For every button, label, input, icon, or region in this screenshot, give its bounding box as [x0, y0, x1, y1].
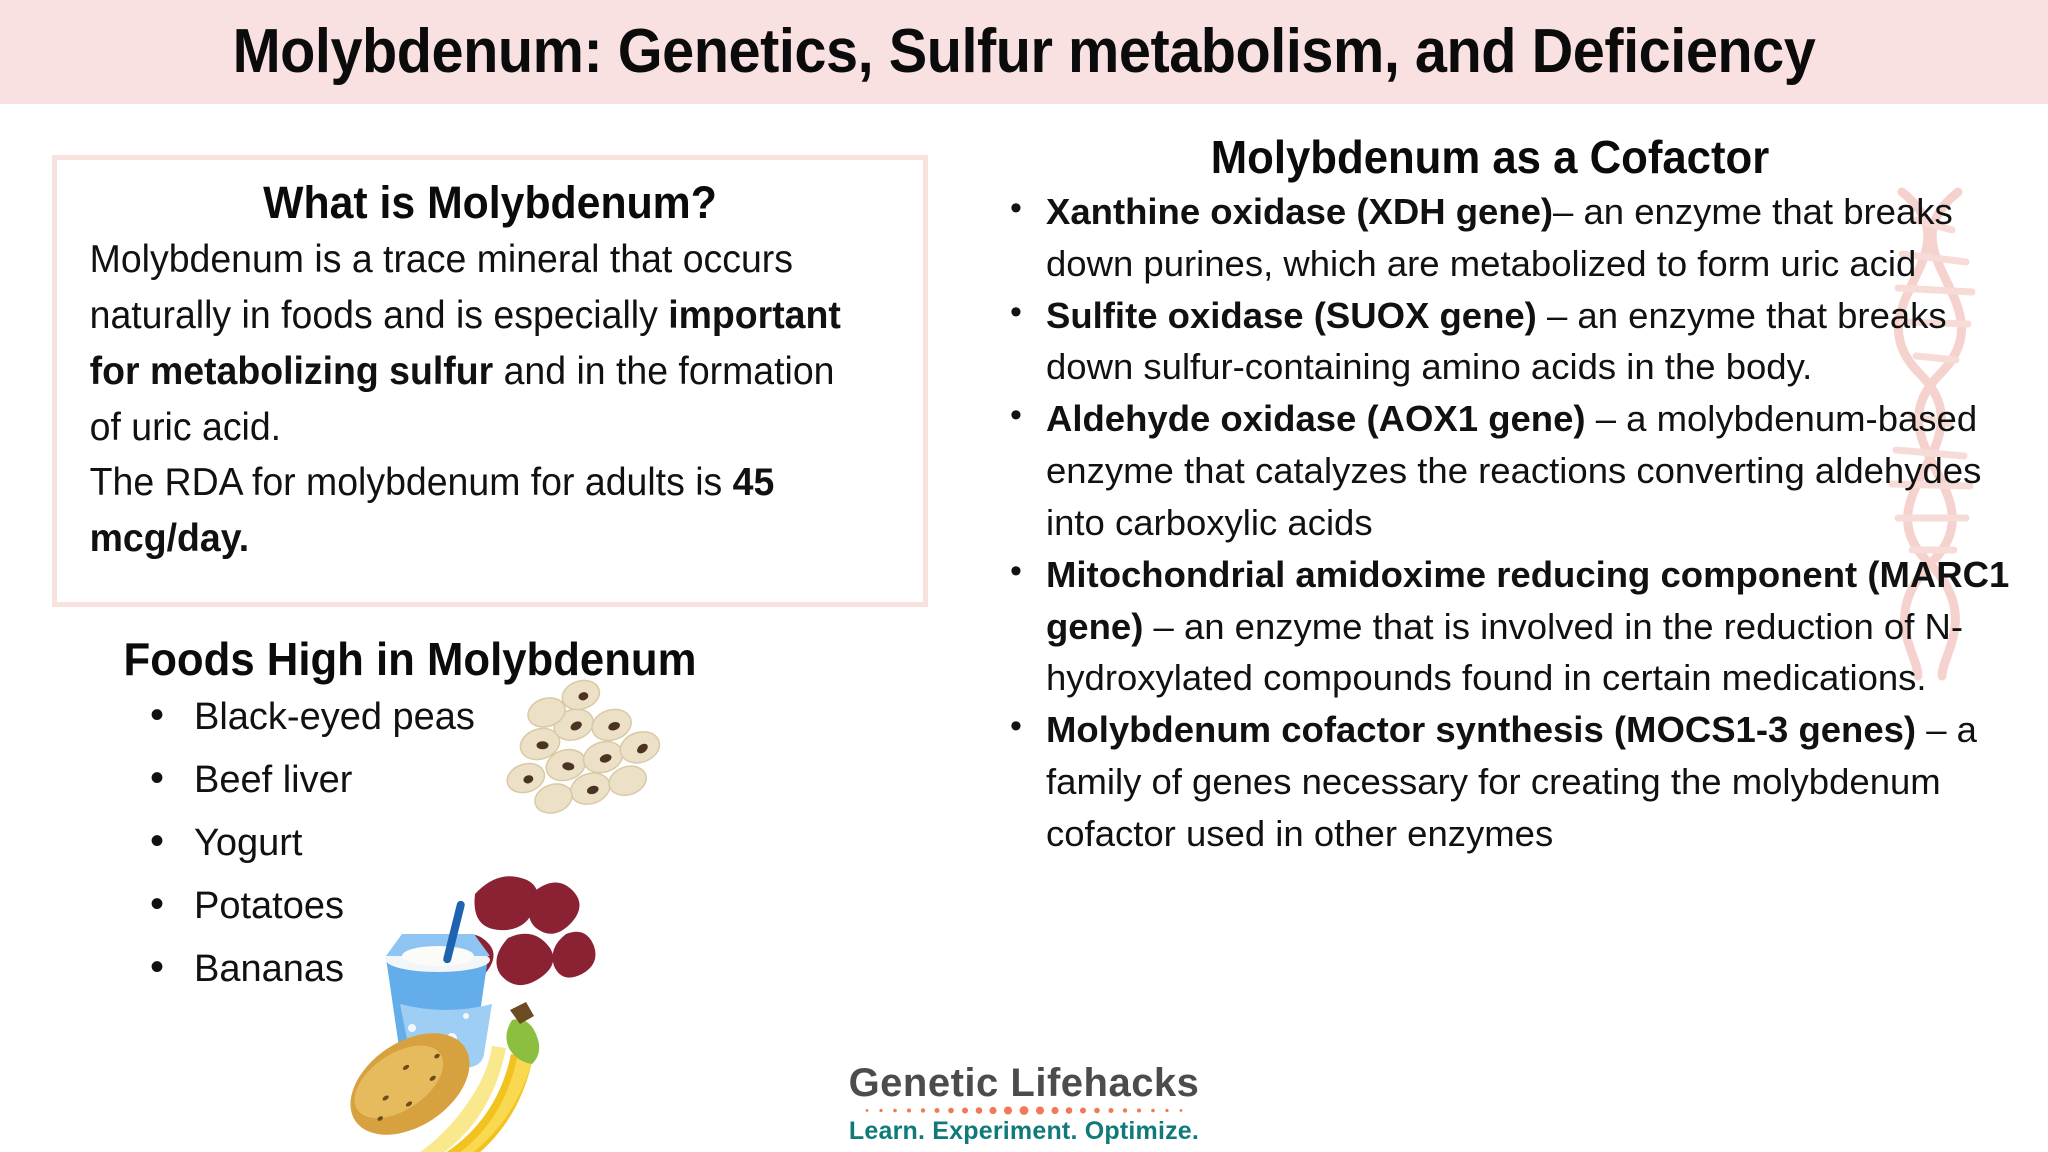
- list-item: Sulfite oxidase (SUOX gene) – an enzyme …: [960, 290, 2016, 394]
- gene-name: Xanthine oxidase (XDH gene): [1046, 191, 1553, 232]
- cofactor-list: Xanthine oxidase (XDH gene)– an enzyme t…: [960, 186, 2016, 860]
- foods-section-title: Foods High in Molybdenum: [21, 634, 800, 685]
- dot-row: [866, 1106, 1183, 1115]
- intro-paragraph-2: The RDA for molybdenum for adults is 45 …: [90, 455, 870, 567]
- cofactor-section-title: Molybdenum as a Cofactor: [987, 132, 1994, 183]
- list-item: Mitochondrial amidoxime reducing compone…: [960, 549, 2016, 704]
- foods-list: Black-eyed peasBeef liverYogurtPotatoesB…: [150, 698, 475, 1013]
- intro-card: What is Molybdenum? Molybdenum is a trac…: [52, 155, 928, 607]
- list-item: Aldehyde oxidase (AOX1 gene) – a molybde…: [960, 393, 2016, 548]
- foods-section: Foods High in Molybdenum Black-eyed peas…: [0, 634, 960, 1054]
- logo-tagline: Learn. Experiment. Optimize.: [0, 1118, 2048, 1146]
- gene-name: Aldehyde oxidase (AOX1 gene): [1046, 398, 1586, 439]
- gene-name: Molybdenum cofactor synthesis (MOCS1-3 g…: [1046, 709, 1916, 750]
- header-banner: Molybdenum: Genetics, Sulfur metabolism,…: [0, 0, 2048, 104]
- list-item: Beef liver: [150, 761, 475, 799]
- page-title: Molybdenum: Genetics, Sulfur metabolism,…: [233, 21, 1816, 83]
- list-item: Xanthine oxidase (XDH gene)– an enzyme t…: [960, 186, 2016, 290]
- intro-paragraph-1: Molybdenum is a trace mineral that occur…: [90, 232, 870, 455]
- right-column: Molybdenum as a Cofactor Xanthine oxidas…: [960, 104, 2048, 1152]
- list-item: Molybdenum cofactor synthesis (MOCS1-3 g…: [960, 704, 2016, 859]
- list-item: Potatoes: [150, 887, 475, 925]
- gene-name: Sulfite oxidase (SUOX gene): [1046, 295, 1537, 336]
- logo-dot-divider: [859, 1105, 1189, 1116]
- infographic-page: Molybdenum: Genetics, Sulfur metabolism,…: [0, 0, 2048, 1152]
- list-item: Yogurt: [150, 824, 475, 862]
- logo-brand: Genetic Lifehacks: [0, 1062, 2048, 1104]
- left-column: What is Molybdenum? Molybdenum is a trac…: [0, 104, 960, 1152]
- site-logo: Genetic Lifehacks Learn. Experiment. Opt…: [0, 1062, 2048, 1146]
- list-item: Bananas: [150, 950, 475, 988]
- intro-card-title: What is Molybdenum?: [79, 178, 902, 228]
- intro-card-body: Molybdenum is a trace mineral that occur…: [57, 232, 898, 567]
- gene-description: – an enzyme that is involved in the redu…: [1046, 606, 1963, 699]
- list-item: Black-eyed peas: [150, 698, 475, 736]
- body-text: The RDA for molybdenum for adults is: [90, 461, 733, 504]
